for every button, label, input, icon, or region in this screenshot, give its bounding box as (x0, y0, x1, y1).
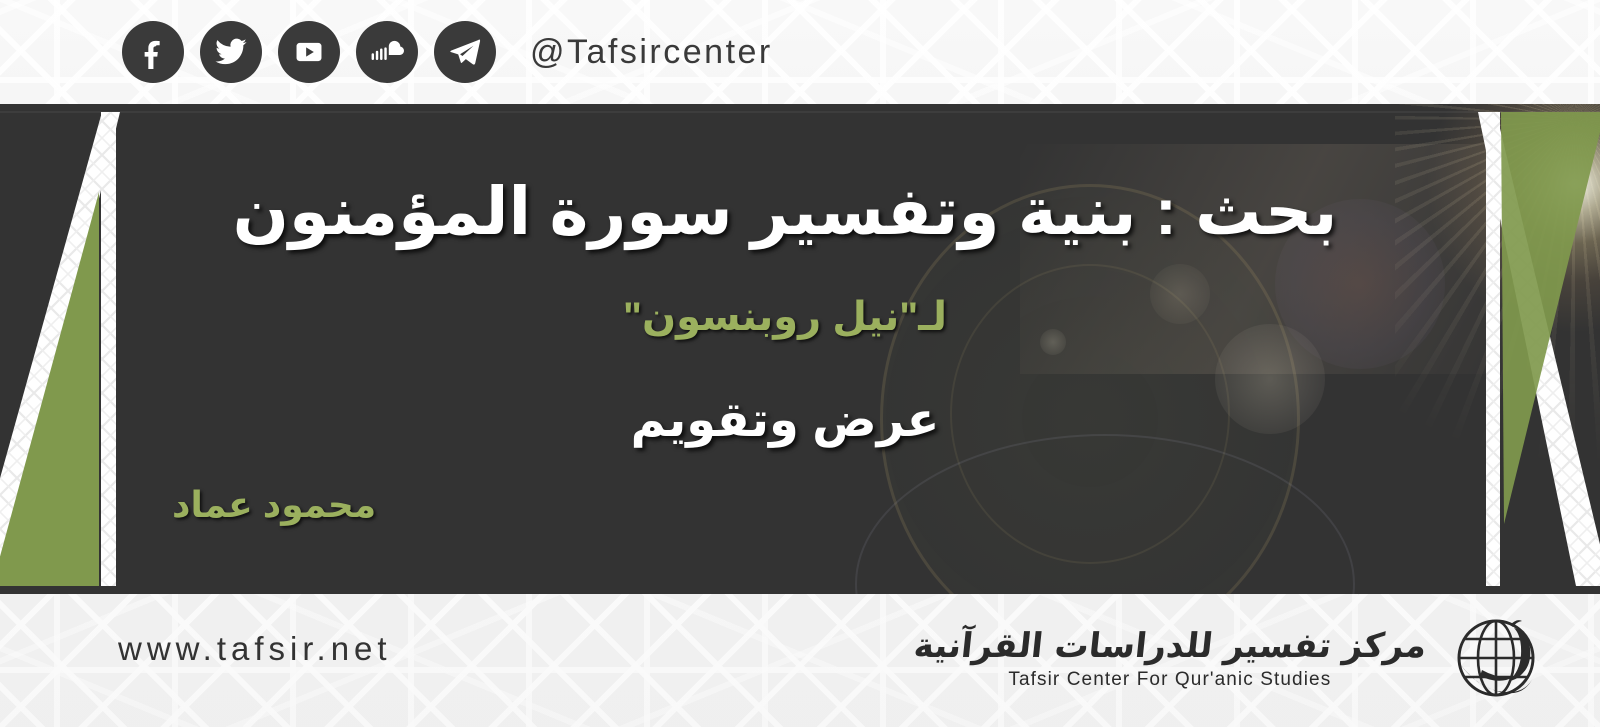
social-bar: @Tafsircenter (0, 0, 1600, 104)
title-banner: بحث : بنية وتفسير سورة المؤمنون لـ"نيل ر… (0, 104, 1600, 594)
twitter-icon[interactable] (200, 21, 262, 83)
brand-name-arabic: مركز تفسير للدراسات القرآنية (912, 626, 1429, 666)
page-subtitle: لـ"نيل روبنسون" (130, 294, 1440, 340)
telegram-icon[interactable] (434, 21, 496, 83)
page-title: بحث : بنية وتفسير سورة المؤمنون (130, 170, 1440, 253)
author-name: محمود عماد (172, 484, 376, 526)
page-tagline: عرض وتقويم (130, 392, 1440, 448)
footer-bar: www.tafsir.net مركز تفسير للدراسات القرآ… (0, 594, 1600, 727)
banner-canvas: @Tafsircenter (0, 0, 1600, 727)
globe-logo-icon (1448, 608, 1548, 708)
social-handle: @Tafsircenter (530, 33, 773, 72)
facebook-icon[interactable] (122, 21, 184, 83)
brand-wordmark: مركز تفسير للدراسات القرآنية Tafsir Cent… (914, 626, 1426, 691)
brand-lockup[interactable]: مركز تفسير للدراسات القرآنية Tafsir Cent… (914, 608, 1548, 708)
youtube-icon[interactable] (278, 21, 340, 83)
brand-name-english: Tafsir Center For Qur'anic Studies (1008, 669, 1331, 691)
banner-text-block: بحث : بنية وتفسير سورة المؤمنون لـ"نيل ر… (130, 104, 1440, 594)
soundcloud-icon[interactable] (356, 21, 418, 83)
lens-flare-sun (1425, 104, 1600, 334)
website-url[interactable]: www.tafsir.net (118, 630, 392, 668)
